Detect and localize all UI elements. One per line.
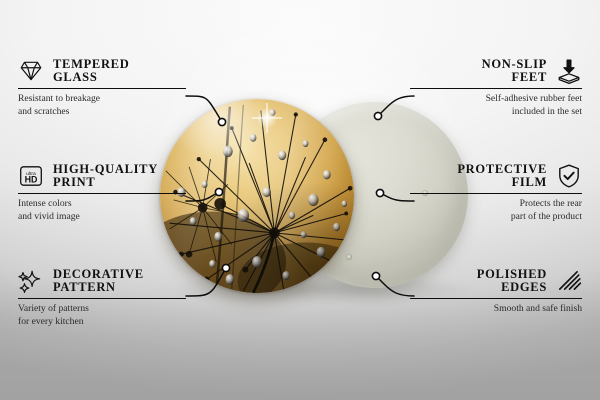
feature-desc-line1: Resistant to breakage [18,93,186,106]
connector-endpoint [215,188,222,195]
feature-divider [410,88,582,89]
arrow-down-pad-icon [556,58,582,84]
ultra-hd-badge-icon: ultra HD [18,163,44,189]
feature-divider [18,298,186,299]
feature-high-quality-print: ultra HD HIGH-QUALITY PRINT Intense colo… [18,163,186,223]
feature-description: Smooth and safe finish [410,303,582,316]
feature-title-line2: EDGES [501,281,547,294]
feature-description: Protects the rear part of the product [410,198,582,223]
feature-polished-edges: POLISHED EDGES Smooth and safe finish [410,268,582,316]
feature-decorative-pattern: DECORATIVE PATTERN Variety of patterns f… [18,268,186,328]
feature-title-line2: PATTERN [53,281,144,294]
feature-protective-film: PROTECTIVE FILM Protects the rear part o… [410,163,582,223]
feature-title-line2: FILM [512,176,547,189]
feature-divider [18,88,186,89]
feature-description: Resistant to breakage and scratches [18,93,186,118]
connector-endpoint [372,272,379,279]
feature-divider [410,193,582,194]
feature-desc-line2: included in the set [410,106,582,119]
feature-tempered-glass: TEMPERED GLASS Resistant to breakage and… [18,58,186,118]
feature-desc-line1: Smooth and safe finish [410,303,582,316]
infographic-canvas: TEMPERED GLASS Resistant to breakage and… [0,0,600,400]
feature-non-slip-feet: NON-SLIP FEET Self-adhesive rubber feet … [410,58,582,118]
feature-desc-line2: part of the product [410,211,582,224]
feature-desc-line2: for every kitchen [18,316,186,329]
feature-divider [410,298,582,299]
feature-description: Intense colors and vivid image [18,198,186,223]
feature-desc-line1: Intense colors [18,198,186,211]
feature-title-line2: FEET [512,71,547,84]
badge-large-text: HD [25,175,38,185]
feature-title-line2: GLASS [53,71,129,84]
connector-endpoint [218,118,225,125]
diagonal-lines-icon [556,268,582,294]
connector-endpoint [376,189,383,196]
feature-desc-line2: and vivid image [18,211,186,224]
feature-desc-line1: Self-adhesive rubber feet [410,93,582,106]
diamond-icon [18,58,44,84]
feature-title-line2: PRINT [53,176,158,189]
connector-endpoint [222,264,229,271]
feature-desc-line1: Variety of patterns [18,303,186,316]
sparkles-icon [18,268,44,294]
feature-divider [18,193,186,194]
feature-desc-line1: Protects the rear [410,198,582,211]
feature-description: Self-adhesive rubber feet included in th… [410,93,582,118]
feature-description: Variety of patterns for every kitchen [18,303,186,328]
shield-check-icon [556,163,582,189]
feature-desc-line2: and scratches [18,106,186,119]
connector-endpoint [374,112,381,119]
